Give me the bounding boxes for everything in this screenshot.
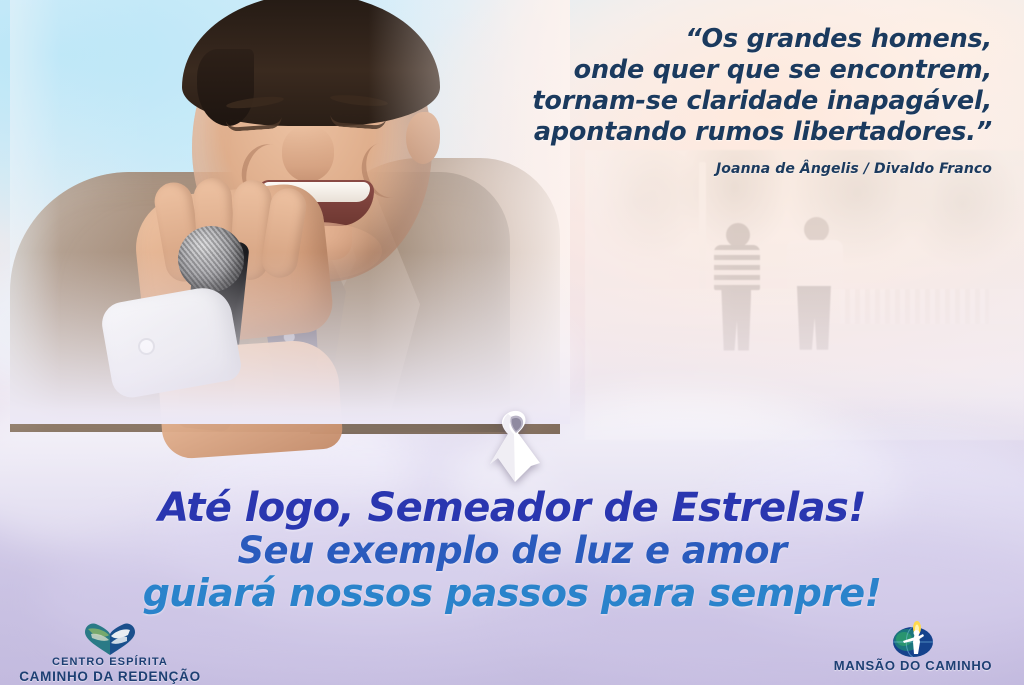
logo-left-text: CENTRO ESPÍRITA CAMINHO DA REDENÇÃO bbox=[10, 656, 210, 684]
logo-right-text: MANSÃO DO CAMINHO bbox=[812, 658, 1014, 673]
mourning-ribbon-icon bbox=[478, 408, 552, 484]
quote-attribution: Joanna de Ângelis / Divaldo Franco bbox=[420, 161, 992, 177]
memorial-poster: “Os grandes homens, onde quer que se enc… bbox=[0, 0, 1024, 685]
headline-block: Até logo, Semeador de Estrelas! Seu exem… bbox=[0, 486, 1024, 615]
headline-line-1: Até logo, Semeador de Estrelas! bbox=[0, 486, 1024, 530]
headline-line-2: Seu exemplo de luz e amor bbox=[0, 530, 1024, 572]
logo-left-line-1: CENTRO ESPÍRITA bbox=[10, 656, 210, 669]
logo-centro-espirita-caminho-da-redencao: CENTRO ESPÍRITA CAMINHO DA REDENÇÃO bbox=[10, 622, 210, 684]
quote-line-4: apontando rumos libertadores.” bbox=[420, 117, 992, 148]
logo-mansao-do-caminho: MANSÃO DO CAMINHO bbox=[812, 618, 1014, 673]
headline-line-3: guiará nossos passos para sempre! bbox=[0, 572, 1024, 615]
logo-right-line-2: MANSÃO DO CAMINHO bbox=[812, 658, 1014, 673]
logo-left-line-2: CAMINHO DA REDENÇÃO bbox=[10, 669, 210, 684]
quote-line-3: tornam-se claridade inapagável, bbox=[420, 86, 992, 117]
globe-figure-torch-icon bbox=[812, 618, 1014, 658]
quote-line-1: “Os grandes homens, bbox=[420, 24, 992, 55]
quote-block: “Os grandes homens, onde quer que se enc… bbox=[420, 24, 992, 177]
hands-heart-icon bbox=[10, 622, 210, 656]
quote-line-2: onde quer que se encontrem, bbox=[420, 55, 992, 86]
